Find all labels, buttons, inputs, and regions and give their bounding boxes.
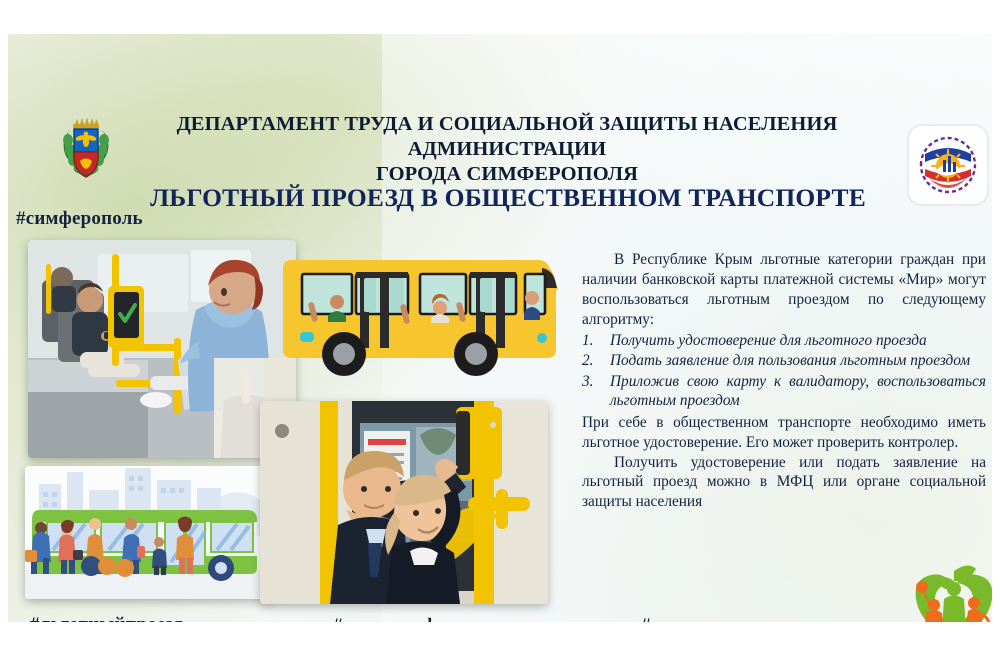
photo-schoolchildren-using-validator bbox=[260, 401, 548, 604]
poster-canvas: ДЕПАРТАМЕНТ ТРУДА И СОЦИАЛЬНОЙ ЗАЩИТЫ НА… bbox=[8, 34, 992, 622]
photo-woman-tapping-card-on-validator bbox=[28, 240, 296, 458]
page-title: ЛЬГОТНЫЙ ПРОЕЗД В ОБЩЕСТВЕННОМ ТРАНСПОРТ… bbox=[68, 184, 948, 212]
department-header: ДЕПАРТАМЕНТ ТРУДА И СОЦИАЛЬНОЙ ЗАЩИТЫ НА… bbox=[112, 112, 902, 188]
algorithm-step: 1. Получить удостоверение для льготного … bbox=[582, 331, 986, 351]
info-text-block: В Республике Крым льготные категории гра… bbox=[582, 250, 986, 512]
family-social-support-logo-icon bbox=[908, 559, 992, 622]
step-number: 3. bbox=[582, 372, 593, 392]
intro-paragraph: В Республике Крым льготные категории гра… bbox=[582, 250, 986, 330]
hashtag-mnogodetnye: #многодетныесемьи bbox=[641, 615, 817, 622]
illustration-yellow-city-bus bbox=[280, 246, 580, 394]
step-text: Подать заявление для пользования льготны… bbox=[610, 352, 970, 369]
step-number: 2. bbox=[582, 351, 593, 371]
header-line-1: ДЕПАРТАМЕНТ ТРУДА И СОЦИАЛЬНОЙ ЗАЩИТЫ НА… bbox=[112, 112, 902, 162]
note-paragraph: При себе в общественном транспорте необх… bbox=[582, 413, 986, 453]
step-number: 1. bbox=[582, 331, 593, 351]
step-text: Получить удостоверение для льготного про… bbox=[610, 332, 927, 349]
where-paragraph: Получить удостоверение или подать заявле… bbox=[582, 453, 986, 513]
hashtag-simferopol: #симферополь bbox=[16, 208, 143, 230]
algorithm-steps-list: 1. Получить удостоверение для льготного … bbox=[582, 331, 986, 411]
hashtag-lgotnyproezd: #льготныйпроезд bbox=[30, 614, 183, 622]
simferopol-coat-of-arms-icon bbox=[56, 116, 116, 188]
step-text: Приложив свою карту к валидатору, воспол… bbox=[610, 373, 986, 410]
algorithm-step: 2. Подать заявление для пользования льго… bbox=[582, 351, 986, 371]
algorithm-step: 3. Приложив свою карту к валидатору, вос… bbox=[582, 372, 986, 411]
illustration-passengers-boarding-green-bus bbox=[25, 466, 275, 599]
hashtag-dtszn: #дтсзнсимферополя bbox=[333, 615, 508, 622]
